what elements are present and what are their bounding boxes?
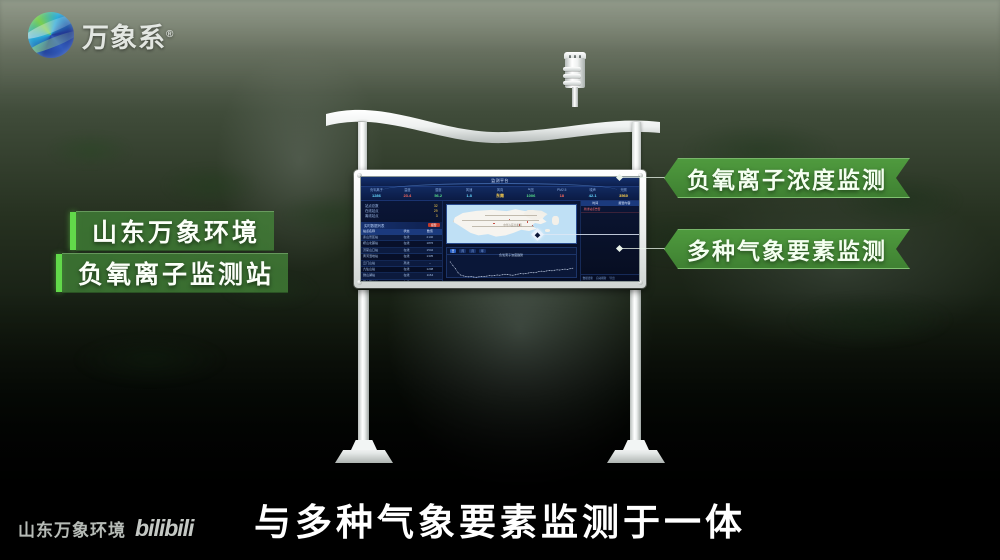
dashboard-body: 站点总数32在线站点29离线站点3 实时数据列表 报警 站点名称状态数值泰山景区… [361, 201, 639, 281]
trend-point [499, 275, 500, 276]
kpi-value: 1.8 [454, 193, 485, 199]
kpi-value: 23.4 [392, 193, 423, 199]
left-label-text: 山东万象环境 [92, 213, 260, 249]
kiosk-foot-cap-left [351, 440, 377, 450]
table-cell: 在线 [395, 248, 416, 253]
trend-point [460, 275, 461, 276]
dashboard-left-panel: 站点总数32在线站点29离线站点3 实时数据列表 报警 站点名称状态数值泰山景区… [361, 201, 443, 281]
sensor-shield-ring [563, 81, 581, 85]
table-cell: 崂山北麓站 [361, 241, 395, 246]
kiosk-top-beam [318, 100, 668, 160]
left-label-company: 山东万象环境 [70, 212, 274, 250]
trend-point [525, 273, 526, 274]
feature-banner-weather-elements: 多种气象要素监测 [664, 229, 910, 269]
kpi-value: 东南 [485, 193, 516, 199]
table-cell: 1542 [416, 248, 441, 253]
table-column-header: 状态 [395, 229, 416, 234]
table-cell: 微山湖站 [361, 273, 395, 278]
callout-connector-line [620, 248, 668, 249]
table-cell: 1092 [416, 280, 441, 281]
trend-point [517, 274, 518, 275]
trend-point [449, 262, 450, 263]
map-island [545, 229, 550, 232]
trend-point [546, 271, 547, 272]
trend-point [564, 269, 565, 270]
dashboard-footer-tags[interactable]: 数据更新自动刷新导出 [581, 274, 639, 281]
station-stat-row: 离线站点3 [365, 214, 438, 219]
station-stat-label: 离线站点 [365, 214, 379, 219]
trend-line-chart [449, 258, 574, 282]
trend-point [452, 265, 453, 266]
table-cell: 蒙山腹地站 [361, 280, 395, 281]
trend-point [562, 269, 563, 270]
kiosk-leg-left [358, 290, 369, 450]
kpi-value: 18 [546, 193, 577, 199]
table-cell: 云门山站 [361, 261, 395, 266]
monitoring-kiosk: 监测平台 负氧离子1286温度23.4湿度56.2风速1.8风向东南气压1006… [330, 60, 660, 460]
kpi-value: 1006 [515, 193, 546, 199]
trend-point [509, 275, 510, 276]
map-station-marker[interactable] [493, 223, 495, 225]
trend-point [528, 273, 529, 274]
trend-point [478, 277, 479, 278]
table-cell: -- [416, 261, 441, 266]
screen-slider-track[interactable] [539, 234, 639, 235]
weather-sensor [562, 52, 588, 110]
trend-point [556, 270, 557, 271]
trend-point [559, 270, 560, 271]
footer-tag[interactable]: 数据更新 [583, 276, 593, 280]
kiosk-screen-frame: 监测平台 负氧离子1286温度23.4湿度56.2风速1.8风向东南气压1006… [354, 170, 646, 288]
data-table-title-label: 实时数据列表 [364, 224, 384, 228]
trend-point [476, 277, 477, 278]
kpi-value: 56.2 [423, 193, 454, 199]
left-label-text: 负氧离子监测站 [78, 255, 274, 291]
table-cell: 黄河湿地站 [361, 254, 395, 259]
kpi-value: 1286 [361, 193, 392, 199]
trend-point [457, 273, 458, 274]
trend-point [569, 269, 570, 270]
trend-point [483, 276, 484, 277]
table-cell: 1335 [416, 254, 441, 259]
map-station-marker[interactable] [527, 221, 529, 223]
alarm-list-empty [581, 213, 639, 274]
kiosk-hanger-left [358, 122, 367, 174]
left-label-body: 山东万象环境 [76, 211, 274, 251]
trademark-icon: ® [166, 29, 174, 40]
footer-tag[interactable]: 导出 [609, 276, 614, 280]
table-cell: 2140 [416, 235, 441, 240]
trend-point [494, 275, 495, 276]
alarm-badge: 报警 [428, 223, 440, 227]
trend-point [502, 275, 503, 276]
bilibili-logo-icon: bilibili [135, 515, 193, 542]
dashboard-header: 监测平台 [361, 177, 639, 187]
table-cell: 在线 [395, 254, 416, 259]
alarm-row: 离线站点告警 [581, 206, 639, 213]
kiosk-display[interactable]: 监测平台 负氧离子1286温度23.4湿度56.2风速1.8风向东南气压1006… [360, 176, 640, 282]
kiosk-leg-right [630, 290, 641, 450]
trend-point [541, 271, 542, 272]
table-cell: 沂蒙山口站 [361, 248, 395, 253]
header-arc-decoration [383, 183, 617, 190]
table-cell: 在线 [395, 273, 416, 278]
feature-banner-negative-ion: 负氧离子浓度监测 [664, 158, 910, 198]
trend-point [465, 276, 466, 277]
data-table[interactable]: 站点名称状态数值泰山景区站在线2140崂山北麓站在线1876沂蒙山口站在线154… [361, 229, 442, 281]
sensor-shield-ring [563, 74, 581, 78]
brand-logo-text: 万象系® [82, 16, 174, 55]
trend-line [450, 262, 573, 277]
callout-connector-line [620, 177, 668, 178]
table-cell: 1164 [416, 273, 441, 278]
trend-point [468, 277, 469, 278]
table-cell: 离线 [395, 261, 416, 266]
trend-point [473, 277, 474, 278]
table-cell: 1876 [416, 241, 441, 246]
table-cell: 在线 [395, 267, 416, 272]
trend-point [530, 272, 531, 273]
left-label-body: 负氧离子监测站 [62, 253, 288, 293]
sensor-shield-ring [563, 67, 581, 71]
map-border-line [485, 215, 537, 216]
trend-point [486, 276, 487, 277]
table-cell: 在线 [395, 235, 416, 240]
trend-point [520, 273, 521, 274]
kpi-value: 3560 [608, 193, 639, 199]
trend-point [572, 268, 573, 269]
trend-chart-title: 负氧离子浓度趋势 [447, 253, 576, 257]
trend-point [543, 271, 544, 272]
trend-point [549, 270, 550, 271]
trend-point [489, 276, 490, 277]
feature-banner-text: 负氧离子浓度监测 [687, 161, 887, 195]
left-label-product: 负氧离子监测站 [56, 254, 288, 292]
trend-point [507, 274, 508, 275]
video-frame: 万象系® [0, 0, 1000, 560]
table-column-header: 数值 [416, 229, 441, 234]
trend-point [515, 275, 516, 276]
footer-tag[interactable]: 自动刷新 [596, 276, 606, 280]
dashboard: 监测平台 负氧离子1286温度23.4湿度56.2风速1.8风向东南气压1006… [361, 177, 639, 281]
trend-point [512, 275, 513, 276]
feature-banner-text: 多种气象要素监测 [687, 232, 887, 266]
trend-point [538, 271, 539, 272]
map-region-label: 中华人民共和国 [503, 223, 521, 227]
table-cell: 九仙山站 [361, 267, 395, 272]
trend-point [496, 275, 497, 276]
trend-point [554, 270, 555, 271]
trend-point [551, 271, 552, 272]
table-cell: 在线 [395, 241, 416, 246]
table-cell: 1208 [416, 267, 441, 272]
trend-chart-panel: 日周月年 负氧离子浓度趋势 [446, 247, 577, 278]
table-column-header: 站点名称 [361, 229, 395, 234]
brand-logo: 万象系® [28, 12, 174, 58]
dashboard-right-panel: 时间报警内容 离线站点告警 数据更新自动刷新导出 [580, 201, 639, 281]
trend-point [463, 276, 464, 277]
kiosk-hanger-right [632, 122, 641, 172]
trend-point [491, 276, 492, 277]
trend-point [567, 269, 568, 270]
trend-point [522, 274, 523, 275]
station-stat-value: 3 [436, 214, 438, 219]
dashboard-center-panel: 中华人民共和国 日周月年 负氧离子浓度趋势 [443, 201, 580, 281]
trend-point [533, 273, 534, 274]
trend-point [470, 276, 471, 277]
sensor-mast [572, 87, 578, 107]
map-island [552, 216, 558, 224]
data-table-title: 实时数据列表 报警 [361, 222, 442, 229]
watermark-channel-name: 山东万象环境 [18, 516, 126, 541]
table-cell: 在线 [395, 280, 416, 281]
trend-point [481, 276, 482, 277]
trend-point [535, 272, 536, 273]
table-cell: 泰山景区站 [361, 235, 395, 240]
kiosk-foot-cap-right [623, 440, 649, 450]
dashboard-title: 监测平台 [361, 178, 639, 184]
china-station-map[interactable]: 中华人民共和国 [446, 204, 577, 244]
channel-watermark: 山东万象环境 bilibili [18, 515, 193, 542]
table-row[interactable]: 蒙山腹地站在线1092 [361, 280, 442, 281]
trend-point [504, 274, 505, 275]
station-stats: 站点总数32在线站点29离线站点3 [361, 201, 442, 222]
globe-swirl-icon [28, 12, 74, 58]
trend-point [455, 269, 456, 270]
kpi-value: 42.1 [577, 193, 608, 199]
brand-logo-label: 万象系 [82, 23, 166, 53]
